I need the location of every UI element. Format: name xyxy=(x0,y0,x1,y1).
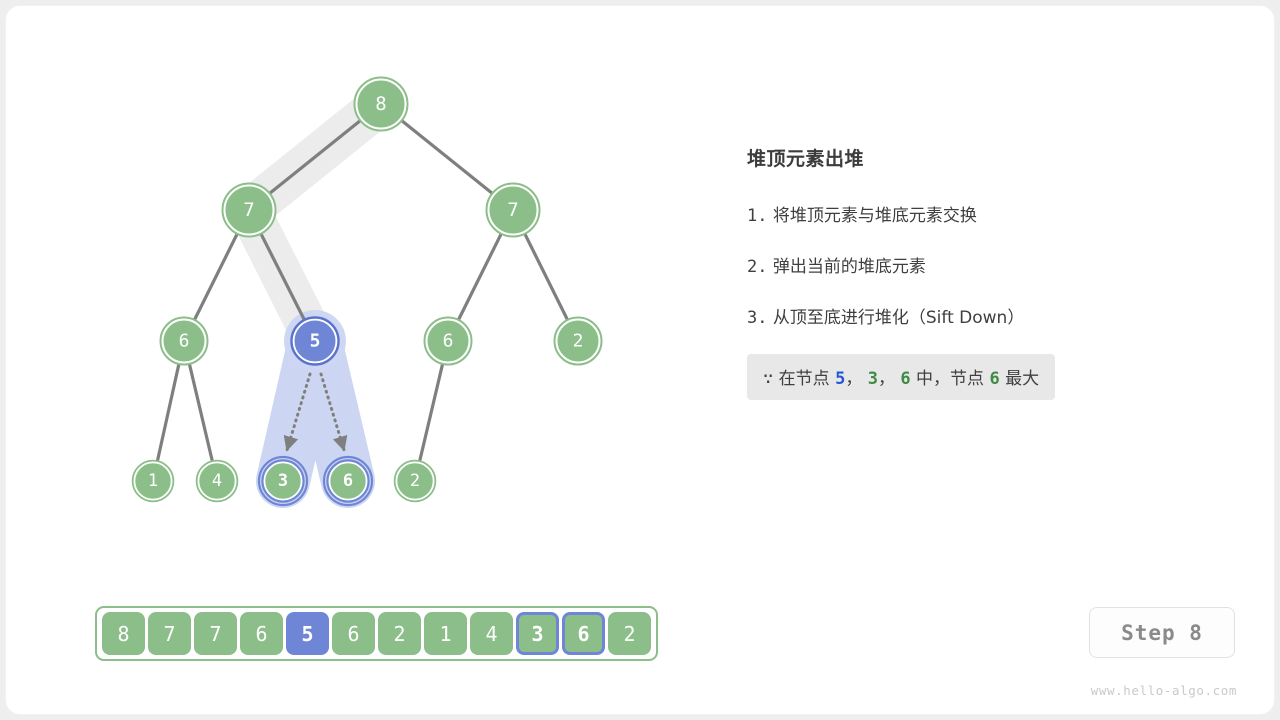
node-label: 3 xyxy=(278,471,288,491)
note-value-1: 3 xyxy=(868,369,878,389)
tree-node-7-left[interactable]: 7 xyxy=(223,184,276,237)
tree-node-1[interactable]: 1 xyxy=(133,461,174,502)
array-cell[interactable]: 2 xyxy=(608,612,651,655)
node-label: 1 xyxy=(148,471,158,491)
node-label: 6 xyxy=(179,331,190,352)
array-cell[interactable]: 8 xyxy=(102,612,145,655)
array-cell[interactable]: 7 xyxy=(194,612,237,655)
page-title: 堆顶元素出堆 xyxy=(747,144,1217,171)
tree-node-7-right[interactable]: 7 xyxy=(487,184,540,237)
step-number: 2. xyxy=(747,257,767,277)
array-cell[interactable]: 6 xyxy=(332,612,375,655)
note-value-0: 5 xyxy=(835,369,845,389)
tree-node-3-child[interactable]: 3 xyxy=(259,457,307,505)
note-comma-0: ， xyxy=(845,369,862,389)
step-item-2: 2. 弹出当前的堆底元素 xyxy=(747,252,1217,277)
note-max-value: 6 xyxy=(989,369,999,389)
step-text: 弹出当前的堆底元素 xyxy=(773,257,926,277)
step-text: 从顶至底进行堆化（Sift Down） xyxy=(773,308,1024,328)
node-label: 6 xyxy=(343,471,353,491)
heap-array: 8 7 7 6 5 6 2 1 4 3 6 2 xyxy=(95,606,658,661)
note-prefix: 在节点 xyxy=(779,369,830,389)
tree-node-5-current[interactable]: 5 xyxy=(292,318,339,365)
tree-node-8[interactable]: 8 xyxy=(355,78,408,131)
note-value-2: 6 xyxy=(900,369,910,389)
step-item-1: 1. 将堆顶元素与堆底元素交换 xyxy=(747,201,1217,226)
array-cell[interactable]: 4 xyxy=(470,612,513,655)
node-label: 2 xyxy=(410,471,420,491)
note-comma-1: ， xyxy=(878,369,895,389)
because-symbol-icon: ∵ xyxy=(763,369,773,389)
tree-node-6-r[interactable]: 6 xyxy=(425,318,472,365)
note-suffix: 最大 xyxy=(1005,369,1039,389)
comparison-note: ∵ 在节点 5， 3， 6 中，节点 6 最大 xyxy=(747,354,1055,400)
array-cell[interactable]: 1 xyxy=(424,612,467,655)
step-number: 3. xyxy=(747,308,767,328)
step-badge: Step 8 xyxy=(1089,607,1235,658)
tree-node-6-l[interactable]: 6 xyxy=(161,318,208,365)
explanation-panel: 堆顶元素出堆 1. 将堆顶元素与堆底元素交换 2. 弹出当前的堆底元素 3. 从… xyxy=(747,144,1217,400)
array-cell[interactable]: 2 xyxy=(378,612,421,655)
node-label: 7 xyxy=(243,199,254,221)
tree-node-6-child-max[interactable]: 6 xyxy=(324,457,372,505)
binary-heap-tree: 8 7 7 6 5 6 2 xyxy=(6,6,706,586)
array-cell[interactable]: 7 xyxy=(148,612,191,655)
node-label: 6 xyxy=(443,331,454,352)
node-label: 7 xyxy=(507,199,518,221)
array-cell-current[interactable]: 5 xyxy=(286,612,329,655)
note-middle: 中，节点 xyxy=(916,369,984,389)
array-cell-compared[interactable]: 6 xyxy=(562,612,605,655)
node-label: 5 xyxy=(310,331,321,352)
tree-edges xyxy=(153,104,578,481)
step-number: 1. xyxy=(747,206,767,226)
step-item-3: 3. 从顶至底进行堆化（Sift Down） xyxy=(747,303,1217,328)
tree-node-4[interactable]: 4 xyxy=(197,461,238,502)
node-label: 4 xyxy=(212,471,222,491)
node-label: 8 xyxy=(375,93,386,115)
tree-node-2-r[interactable]: 2 xyxy=(555,318,602,365)
array-cell-compared[interactable]: 3 xyxy=(516,612,559,655)
tree-node-2-leaf[interactable]: 2 xyxy=(395,461,436,502)
watermark: www.hello-algo.com xyxy=(1077,683,1237,698)
array-cell[interactable]: 6 xyxy=(240,612,283,655)
diagram-card: 8 7 7 6 5 6 2 xyxy=(6,6,1274,714)
node-label: 2 xyxy=(573,331,584,352)
step-text: 将堆顶元素与堆底元素交换 xyxy=(773,206,977,226)
